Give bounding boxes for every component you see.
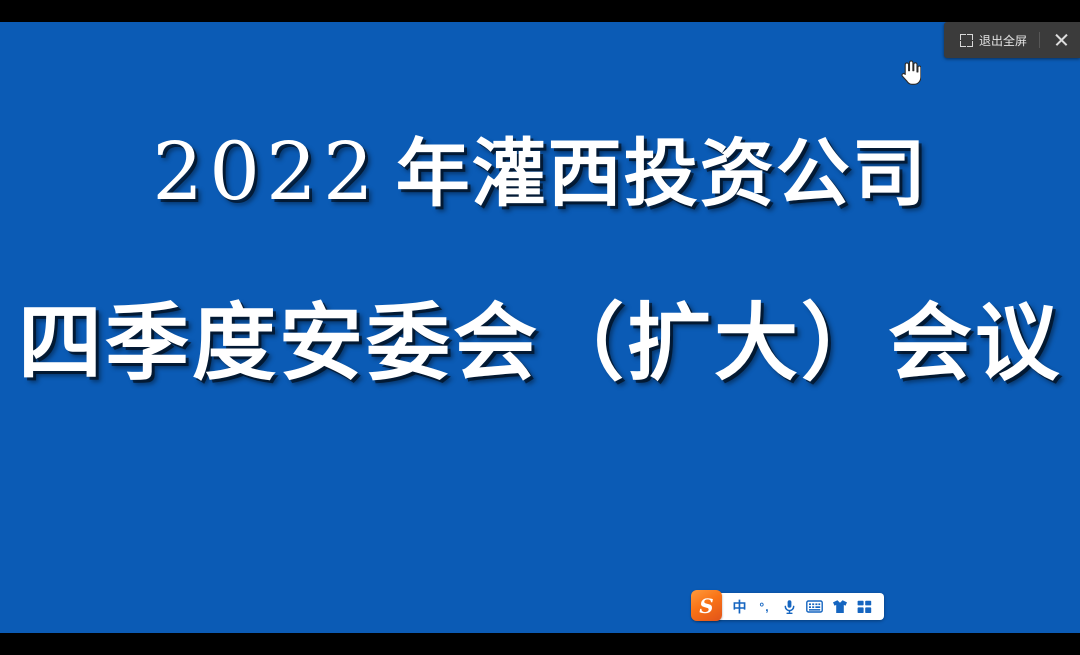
toolbar-divider: [1039, 32, 1040, 48]
ime-punctuation-label: °,: [759, 600, 769, 614]
shrink-fullscreen-icon: [960, 34, 973, 47]
keyboard-icon[interactable]: [802, 596, 827, 618]
letterbox-top: [0, 0, 1080, 22]
punctuation-icon[interactable]: °,: [752, 596, 777, 618]
exit-fullscreen-button[interactable]: 退出全屏: [952, 22, 1035, 58]
microphone-icon[interactable]: [777, 596, 802, 618]
slide-title-line-1-suffix: 年灌西投资公司: [396, 131, 928, 217]
letterbox-bottom: [0, 633, 1080, 655]
sogou-logo-icon[interactable]: S: [691, 590, 722, 621]
exit-fullscreen-label: 退出全屏: [979, 32, 1027, 49]
ime-mode-label: 中: [733, 597, 747, 617]
close-x-icon: [1054, 33, 1068, 47]
toolbox-grid-icon[interactable]: [852, 596, 877, 618]
shirt-skin-icon[interactable]: [827, 596, 852, 618]
presentation-slide[interactable]: 2022年灌西投资公司 四季度安委会（扩大）会议 S 中 °,: [0, 22, 1080, 633]
chinese-mode-icon[interactable]: 中: [727, 596, 752, 618]
close-button[interactable]: [1044, 22, 1078, 58]
fullscreen-toolbar[interactable]: 退出全屏: [944, 22, 1080, 58]
slide-title-line-1: 2022年灌西投资公司: [0, 125, 1080, 221]
screen-root: 2022年灌西投资公司 四季度安委会（扩大）会议 S 中 °,: [0, 0, 1080, 655]
sogou-ime-status-bar[interactable]: S 中 °,: [697, 593, 884, 620]
slide-title-year: 2022: [152, 125, 396, 218]
slide-title-line-2: 四季度安委会（扩大）会议: [0, 290, 1080, 396]
